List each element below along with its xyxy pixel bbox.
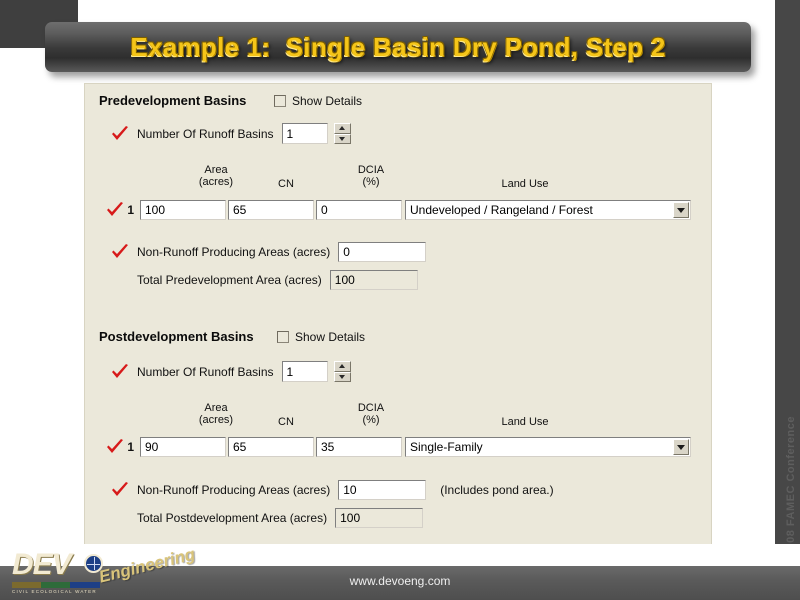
dropdown-arrow-button[interactable] (673, 439, 689, 455)
predev-total-row: Total Predevelopment Area (acres) (137, 270, 418, 290)
predev-total-label: Total Predevelopment Area (acres) (137, 273, 322, 287)
postdev-row-index: 1 (124, 440, 134, 454)
checkbox-box[interactable] (277, 331, 289, 343)
postdev-non-runoff-note: (Includes pond area.) (440, 483, 553, 497)
slide-canvas: 2008 FAMEC Conference Example 1: Single … (0, 0, 800, 600)
postdev-total-row: Total Postdevelopment Area (acres) (137, 508, 423, 528)
postdev-col-dcia: DCIA (%) (336, 402, 406, 426)
postdevelopment-basin-count-stepper[interactable] (282, 361, 351, 382)
dropdown-arrow-button[interactable] (673, 202, 689, 218)
postdev-cn-input[interactable] (228, 437, 314, 457)
table-row: 1 Single-Family (106, 437, 691, 457)
predev-land-use-value: Undeveloped / Rangeland / Forest (406, 203, 593, 217)
slide-title-bar: Example 1: Single Basin Dry Pond, Step 2 (45, 22, 751, 72)
red-check-icon (111, 482, 129, 498)
postdev-col-dcia-line2: (%) (336, 414, 406, 426)
red-check-icon (111, 244, 129, 260)
postdev-non-runoff-input[interactable] (338, 480, 426, 500)
logo-tagline: CIVIL ECOLOGICAL WATER (12, 589, 97, 594)
predev-area-input[interactable] (140, 200, 226, 220)
red-check-icon (106, 439, 124, 455)
postdev-land-use-dropdown[interactable]: Single-Family (405, 437, 691, 457)
stepper-up-button[interactable] (334, 123, 351, 134)
predev-total-value (330, 270, 418, 290)
postdevelopment-show-details-checkbox[interactable]: Show Details (277, 330, 365, 344)
postdev-col-area-line1: Area (181, 402, 251, 414)
chevron-down-icon (677, 208, 685, 213)
predev-row-index: 1 (124, 203, 134, 217)
caret-up-icon (339, 364, 345, 368)
postdev-total-value (335, 508, 423, 528)
table-row: 1 Undeveloped / Rangeland / Forest (106, 200, 691, 220)
postdev-total-label: Total Postdevelopment Area (acres) (137, 511, 327, 525)
caret-down-icon (339, 137, 345, 141)
predev-col-area-line2: (acres) (181, 176, 251, 188)
postdevelopment-show-details-label: Show Details (295, 330, 365, 344)
predev-col-area: Area (acres) (181, 164, 251, 188)
predev-non-runoff-row: Non-Runoff Producing Areas (acres) (111, 242, 426, 262)
stepper-buttons[interactable] (334, 123, 351, 144)
predev-col-cn: CN (251, 178, 321, 190)
postdev-land-use-value: Single-Family (406, 440, 483, 454)
predevelopment-basin-count-row: Number Of Runoff Basins (111, 123, 351, 144)
caret-down-icon (339, 375, 345, 379)
predev-non-runoff-input[interactable] (338, 242, 426, 262)
predevelopment-section-title: Predevelopment Basins (99, 93, 246, 108)
page-title: Example 1: Single Basin Dry Pond, Step 2 (130, 32, 665, 63)
postdevelopment-basin-count-label: Number Of Runoff Basins (137, 365, 274, 379)
right-side-strip: 2008 FAMEC Conference (775, 0, 800, 566)
chevron-down-icon (677, 445, 685, 450)
predev-col-landuse: Land Use (465, 178, 585, 190)
postdevelopment-basin-count-row: Number Of Runoff Basins (111, 361, 351, 382)
postdev-col-dcia-line1: DCIA (336, 402, 406, 414)
red-check-icon (111, 126, 129, 142)
stepper-down-button[interactable] (334, 134, 351, 145)
red-check-icon (106, 202, 124, 218)
predevelopment-show-details-label: Show Details (292, 94, 362, 108)
checkbox-box[interactable] (274, 95, 286, 107)
predev-non-runoff-label: Non-Runoff Producing Areas (acres) (137, 245, 330, 259)
caret-up-icon (339, 126, 345, 130)
postdev-non-runoff-row: Non-Runoff Producing Areas (acres) (Incl… (111, 480, 554, 500)
postdevelopment-section-title: Postdevelopment Basins (99, 329, 254, 344)
postdev-col-landuse: Land Use (465, 416, 585, 428)
predevelopment-show-details-checkbox[interactable]: Show Details (274, 94, 362, 108)
logo-wordmark: DEV (12, 548, 71, 582)
predev-dcia-input[interactable] (316, 200, 402, 220)
postdev-col-cn: CN (251, 416, 321, 428)
conference-vertical-label: 2008 FAMEC Conference (785, 416, 797, 556)
predev-col-dcia-line1: DCIA (336, 164, 406, 176)
stepper-up-button[interactable] (334, 361, 351, 372)
postdev-area-input[interactable] (140, 437, 226, 457)
postdev-col-area-line2: (acres) (181, 414, 251, 426)
postdev-col-area: Area (acres) (181, 402, 251, 426)
predev-col-dcia: DCIA (%) (336, 164, 406, 188)
devo-engineering-logo: DEV Engineering CIVIL ECOLOGICAL WATER (10, 544, 160, 596)
form-panel: Predevelopment Basins Show Details Numbe… (84, 83, 712, 545)
predev-col-area-line1: Area (181, 164, 251, 176)
postdev-dcia-input[interactable] (316, 437, 402, 457)
predevelopment-basin-count-input[interactable] (282, 123, 328, 144)
stepper-buttons[interactable] (334, 361, 351, 382)
postdevelopment-basin-count-input[interactable] (282, 361, 328, 382)
predevelopment-basin-count-label: Number Of Runoff Basins (137, 127, 274, 141)
stepper-down-button[interactable] (334, 372, 351, 383)
predev-land-use-dropdown[interactable]: Undeveloped / Rangeland / Forest (405, 200, 691, 220)
predev-cn-input[interactable] (228, 200, 314, 220)
red-check-icon (111, 364, 129, 380)
predev-col-dcia-line2: (%) (336, 176, 406, 188)
logo-color-bars (12, 582, 100, 588)
postdev-non-runoff-label: Non-Runoff Producing Areas (acres) (137, 483, 330, 497)
predevelopment-basin-count-stepper[interactable] (282, 123, 351, 144)
